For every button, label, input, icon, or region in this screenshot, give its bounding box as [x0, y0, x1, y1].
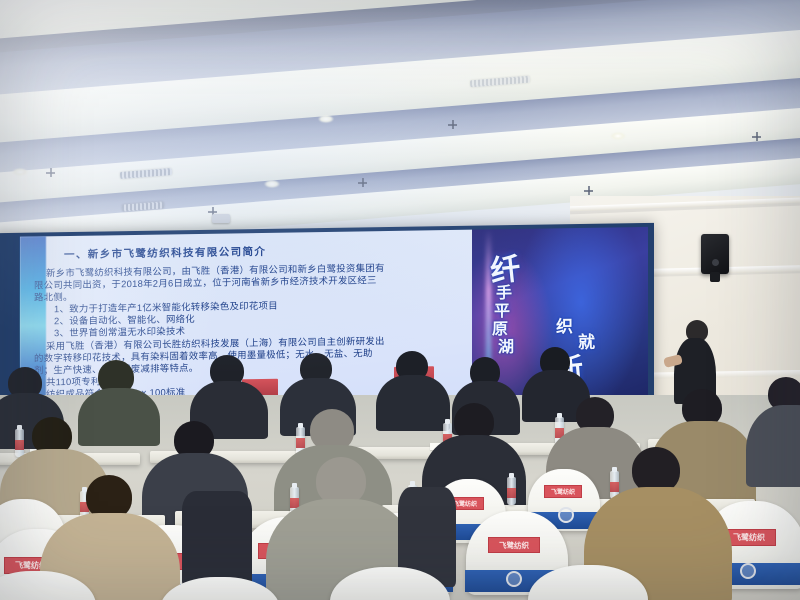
chair-sash-ring — [740, 563, 756, 579]
chair-cover — [330, 567, 450, 600]
covered-chair[interactable] — [330, 567, 450, 600]
ceiling-downlight — [12, 168, 28, 176]
chair-sash-ring — [506, 571, 522, 587]
water-bottle — [15, 429, 24, 457]
sprinkler-head — [448, 120, 457, 129]
ceiling-projector — [212, 214, 230, 223]
wall-speaker — [701, 234, 729, 274]
chair-tag-text: 飞鹭纺织 — [733, 532, 765, 543]
chair-tag-text: 飞鹭纺织 — [499, 540, 529, 551]
chair-name-tag: 飞鹭纺织 — [544, 485, 582, 498]
calligraphy-char: 湖 — [498, 333, 514, 357]
chair-tag-text: 飞鹭纺织 — [453, 499, 477, 508]
ceiling-downlight — [610, 132, 626, 140]
audience-area: 飞鹭纺织 飞鹭纺织 飞鹭纺织 — [0, 395, 800, 600]
calligraphy-char: 织 — [556, 312, 573, 337]
ceiling-downlight — [264, 180, 280, 188]
covered-chair[interactable] — [0, 571, 96, 600]
water-bottle — [507, 477, 516, 505]
sprinkler-head — [46, 168, 55, 177]
sprinkler-head — [752, 132, 761, 141]
ceiling-downlight — [318, 115, 334, 123]
conference-room-photo: 一、新乡市飞鹭纺织科技有限公司简介 新乡市飞鹭纺织科技有限公司，由飞胜（香港）有… — [0, 0, 800, 600]
chair-name-tag: 飞鹭纺织 — [488, 537, 540, 553]
chair-cover — [160, 577, 280, 600]
chair-tag-text: 飞鹭纺织 — [551, 487, 575, 496]
chair-cover — [0, 571, 96, 600]
sprinkler-head — [358, 178, 367, 187]
covered-chair[interactable] — [160, 577, 280, 600]
covered-chair[interactable] — [528, 565, 648, 600]
sprinkler-head — [584, 186, 593, 195]
chair-cover — [528, 565, 648, 600]
speaker-mount — [710, 272, 720, 282]
